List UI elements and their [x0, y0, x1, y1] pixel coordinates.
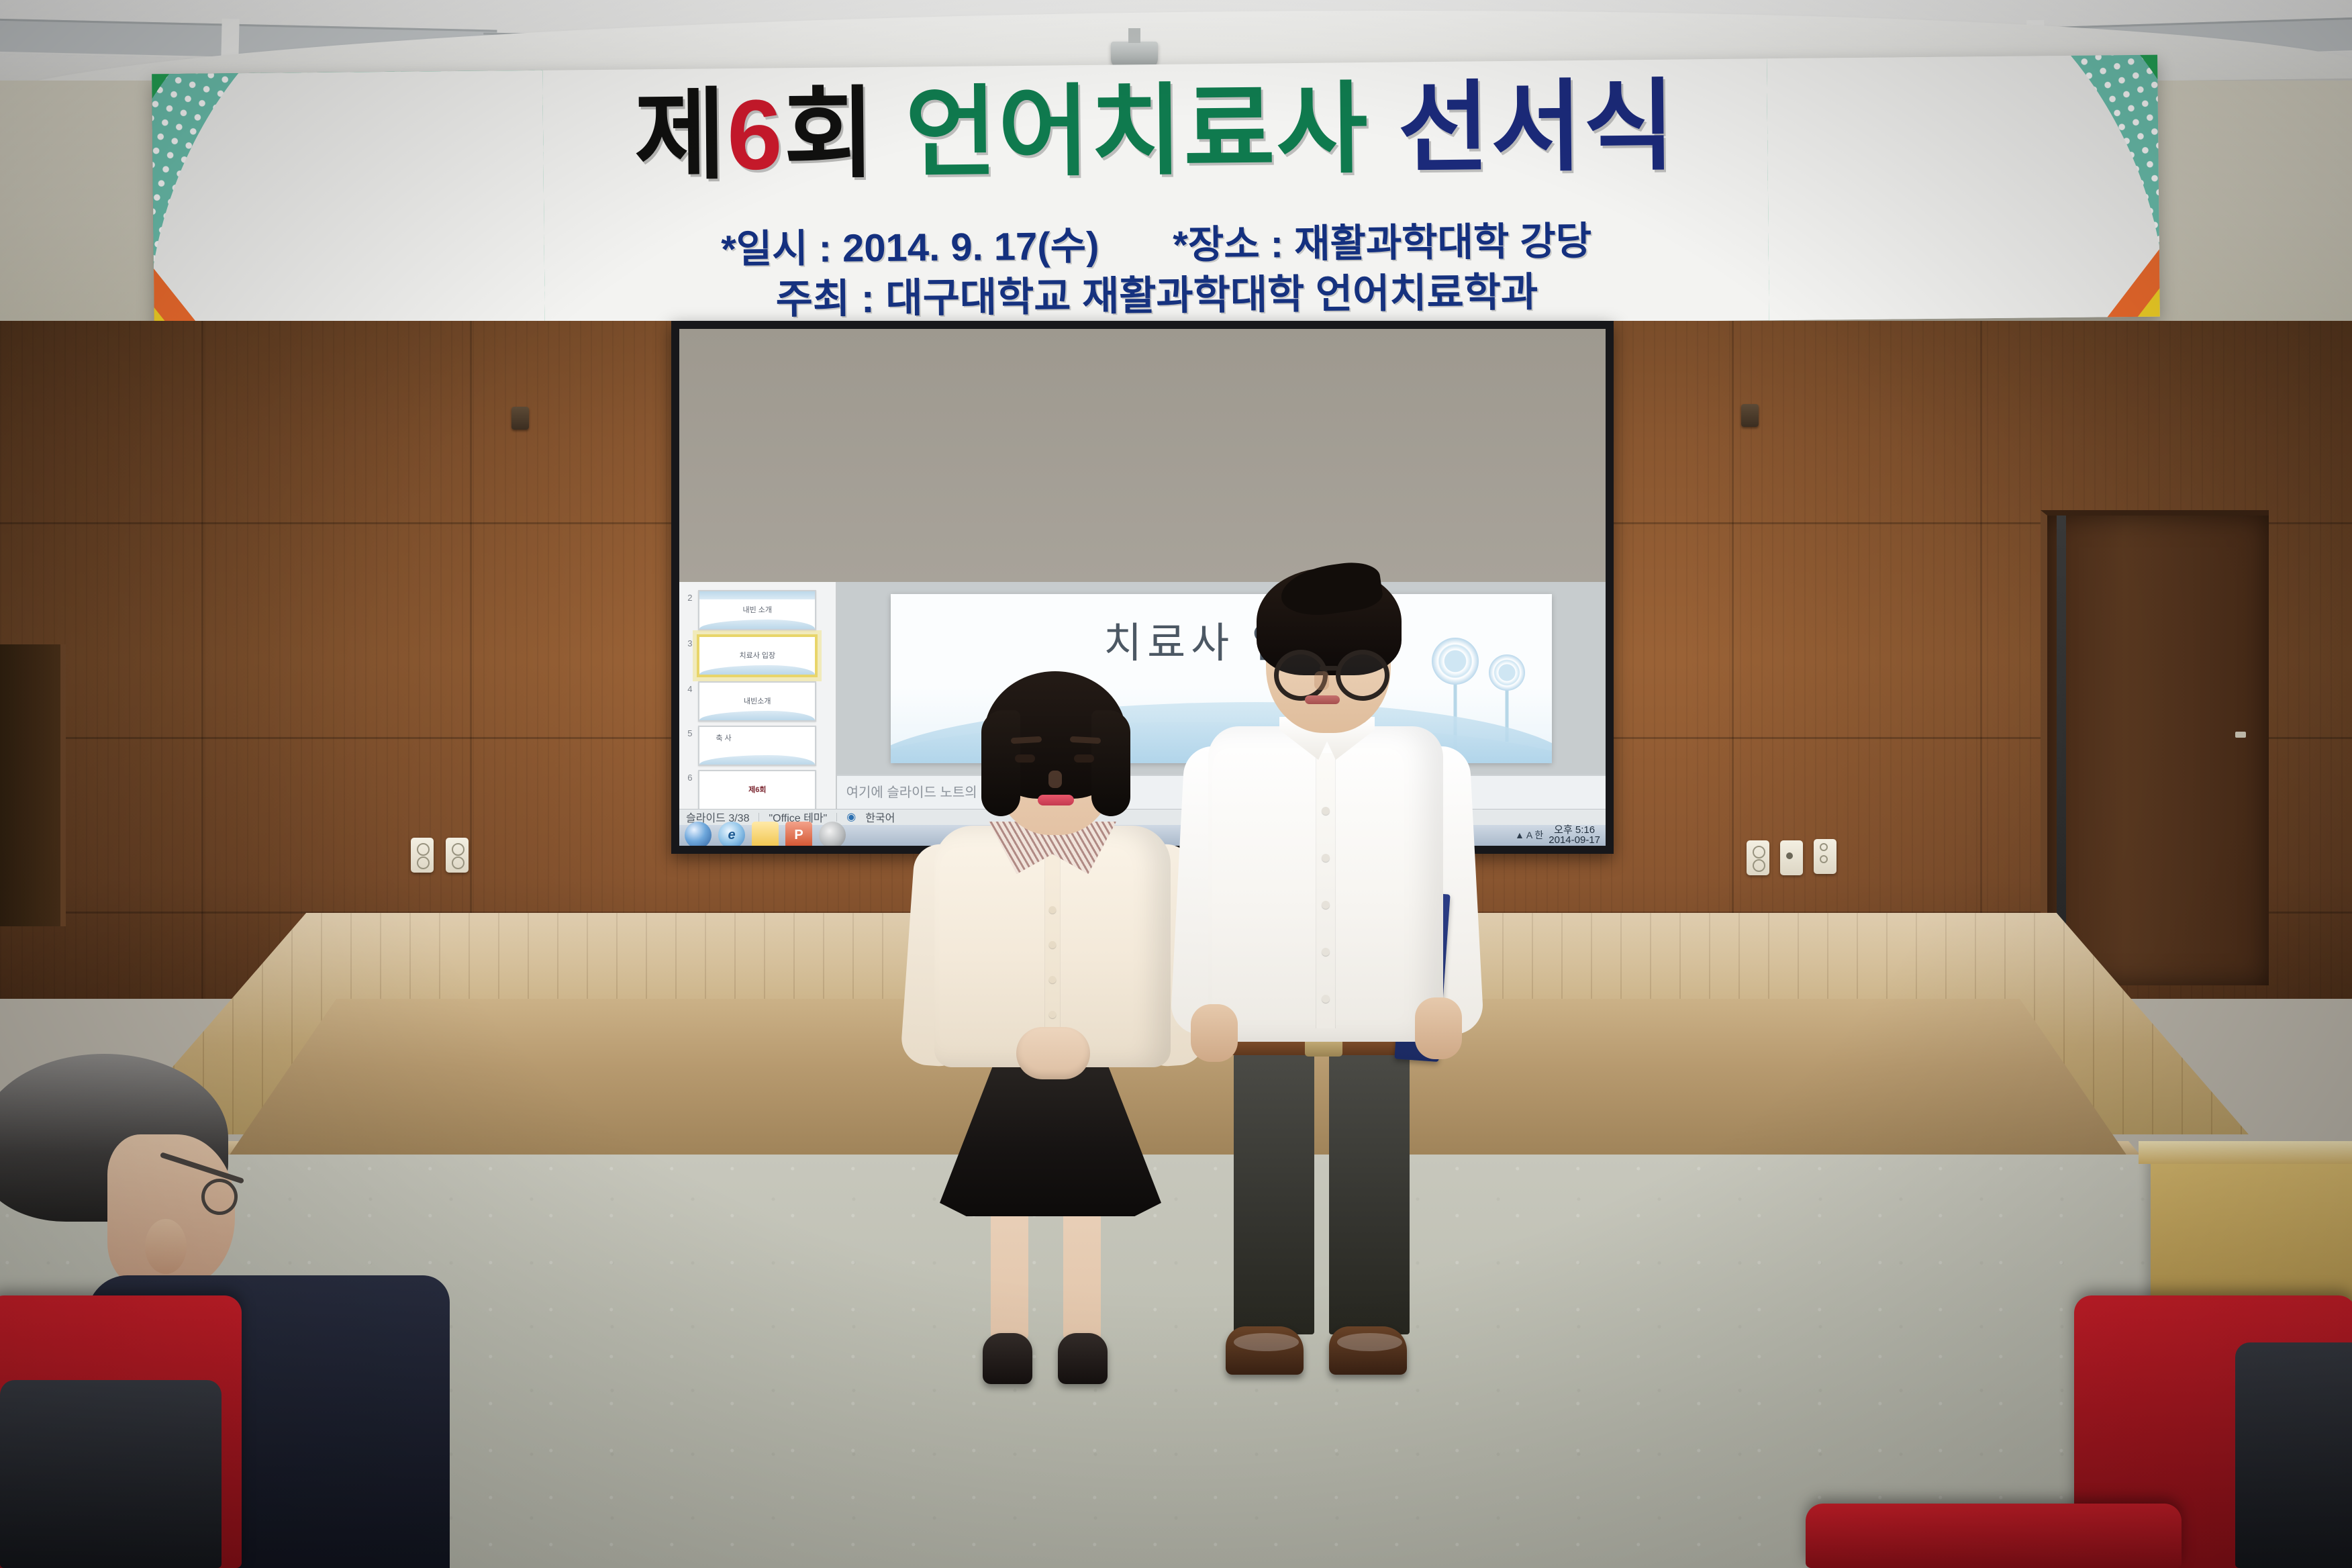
door-knob-icon[interactable] — [2235, 732, 2246, 738]
man-hand-left — [1191, 1004, 1238, 1062]
wall-outlet[interactable] — [411, 838, 434, 873]
man-mouth — [1305, 695, 1340, 704]
banner-title-part-4: 언어치료사 — [876, 74, 1369, 189]
system-tray[interactable]: ▲ A 한 오후 5:16 2014-09-17 — [1515, 825, 1600, 846]
man-legs — [1228, 1052, 1416, 1375]
audience-ear — [145, 1219, 187, 1274]
event-banner: 제6회 언어치료사 선서식 *일시 : 2014. 9. 17(수)*장소 : … — [152, 55, 2160, 336]
woman-hair-side — [981, 710, 1020, 816]
auditorium-photo: 제6회 언어치료사 선서식 *일시 : 2014. 9. 17(수)*장소 : … — [0, 0, 2352, 1568]
exit-door[interactable] — [2041, 510, 2269, 985]
banner-title: 제6회 언어치료사 선서식 — [152, 72, 2158, 191]
slide-thumb-title: 축 사 — [716, 732, 815, 743]
sprinkler-icon — [1741, 404, 1759, 427]
woman-hair-side — [1091, 710, 1130, 816]
media-player-icon[interactable] — [819, 822, 846, 846]
tray-glyphs[interactable]: ▲ A 한 — [1515, 828, 1543, 842]
wall-data-port[interactable] — [1814, 839, 1836, 874]
slide-thumb-title: 제6회 — [699, 784, 815, 795]
clock-time: 오후 5:16 — [1554, 824, 1595, 836]
slide-thumbnail[interactable]: 4 내빈소개 — [698, 681, 816, 722]
slide-thumb-title: 내빈 소개 — [699, 604, 815, 615]
slide-thumb-title: 치료사 입장 — [699, 650, 815, 660]
man-eyeglasses — [1336, 650, 1389, 701]
slide-thumbnail-panel[interactable]: 2 내빈 소개 3 치료사 입장 4 내빈소개 — [679, 582, 837, 809]
man-hand-right — [1415, 997, 1462, 1059]
wall-outlet[interactable] — [446, 838, 469, 873]
powerpoint-icon[interactable]: P — [785, 822, 812, 846]
audience-chair[interactable] — [1806, 1504, 2182, 1568]
sprinkler-icon — [511, 407, 529, 430]
wall-outlet[interactable] — [1747, 840, 1769, 875]
slide-thumbnail[interactable]: 5 축 사 — [698, 726, 816, 766]
audience-chair-back[interactable] — [0, 1380, 222, 1568]
ime-icon[interactable]: ◉ — [846, 810, 856, 824]
slide-thumbnail[interactable]: 6 제6회 — [698, 770, 816, 810]
slide-thumbnail[interactable]: 2 내빈 소개 — [698, 590, 816, 630]
man-shirt — [1208, 726, 1443, 1042]
woman-shoe — [983, 1333, 1032, 1384]
taskbar-clock[interactable]: 오후 5:16 2014-09-17 — [1549, 825, 1600, 846]
slide-thumbnail-selected[interactable]: 3 치료사 입장 — [697, 634, 818, 677]
start-orb-icon[interactable] — [685, 822, 712, 846]
input-language: 한국어 — [865, 809, 895, 825]
wall-shadow-left — [0, 321, 658, 999]
slide-number: 4 — [687, 684, 692, 694]
podium-top-edge — [2139, 1141, 2352, 1164]
woman-lips — [1038, 795, 1074, 805]
man-shoe — [1329, 1326, 1407, 1375]
eyeglass-bridge-icon — [1320, 666, 1338, 671]
banner-title-part-3: 회 — [783, 79, 877, 190]
man-shoe — [1226, 1326, 1304, 1375]
woman-clasped-hands — [1016, 1027, 1090, 1079]
woman-shoe — [1058, 1333, 1108, 1384]
side-wall-recess — [0, 644, 66, 926]
audience-chair-back[interactable] — [2235, 1342, 2352, 1568]
wall-switch[interactable] — [1780, 840, 1803, 875]
slide-number: 6 — [687, 773, 692, 783]
clock-date: 2014-09-17 — [1549, 834, 1600, 846]
internet-explorer-icon[interactable]: e — [718, 822, 745, 846]
banner-title-part-5: 선서식 — [1369, 71, 1677, 185]
projection-screen: 2 내빈 소개 3 치료사 입장 4 내빈소개 — [671, 321, 1614, 854]
banner-title-part-2: 6 — [726, 79, 784, 191]
screen-blank-area — [679, 329, 1606, 582]
slide-number: 2 — [687, 593, 692, 603]
banner-title-part-1: 제 — [634, 80, 728, 191]
slide-number: 5 — [687, 728, 692, 738]
slide-number: 3 — [687, 638, 692, 648]
windows-explorer-icon[interactable] — [752, 822, 779, 846]
slide-thumb-title: 내빈소개 — [699, 695, 815, 706]
